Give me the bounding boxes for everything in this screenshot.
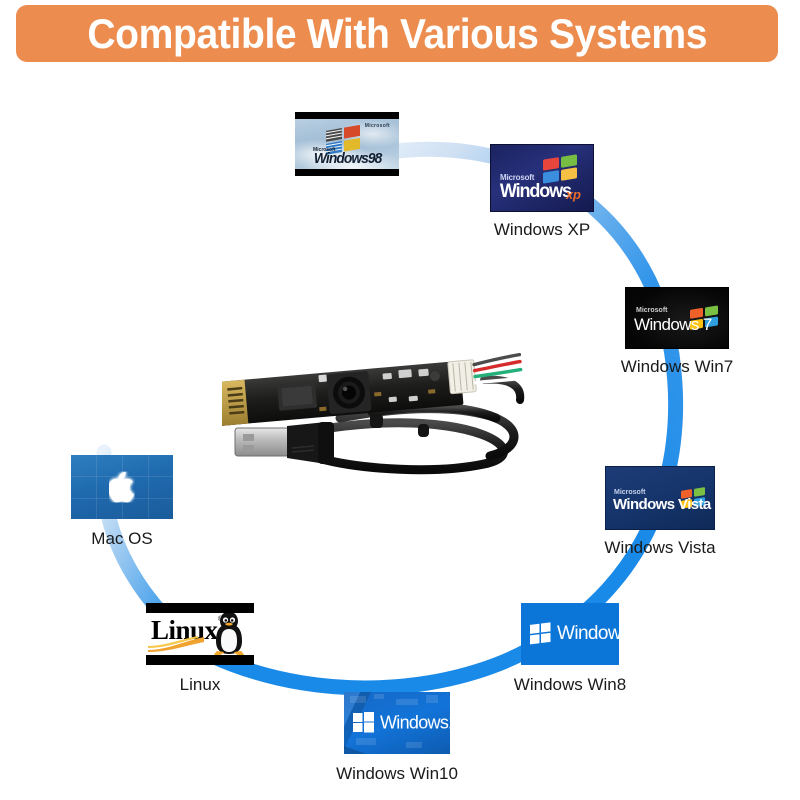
os-node-linux[interactable]: Linux ® Linux: [146, 603, 254, 665]
windows7-logo-tile: Microsoft Windows 7: [625, 287, 729, 349]
windows8-logo-tile: Windows 8: [521, 603, 619, 665]
windows8-flag-icon: [529, 622, 553, 646]
os-node-windows98[interactable]: Microsoft Microsof: [295, 112, 399, 176]
os-node-macos[interactable]: Mac OS: [71, 455, 173, 519]
microsoft-wordmark: Microsoft: [636, 307, 668, 314]
os-node-windowsvista[interactable]: Microsoft Windows Vista Windows Vista: [605, 466, 715, 530]
apple-logo-icon: [109, 472, 135, 503]
macos-logo-tile: [71, 455, 173, 519]
microsoft-wordmark: Microsoft: [365, 123, 390, 129]
windows10-logo-tile: Windows10: [344, 692, 450, 754]
page-title: Compatible With Various Systems: [87, 10, 707, 58]
windows10-flag-icon: [352, 711, 376, 735]
os-label-linux: Linux: [180, 675, 221, 695]
os-label-windows8: Windows Win8: [514, 675, 626, 695]
os-node-windows8[interactable]: Windows 8 Windows Win8: [521, 603, 619, 665]
microsoft-wordmark: Microsoft: [614, 489, 646, 496]
os-label-windowsxp: Windows XP: [494, 220, 590, 240]
windows10-wordmark: Windows10: [380, 713, 450, 734]
windowsxp-suffix: xp: [566, 187, 581, 202]
os-node-windows10[interactable]: Windows10 Windows Win10: [344, 692, 450, 754]
windows98-wordmark: Windows98: [314, 150, 382, 167]
linux-logo-tile: Linux ®: [146, 603, 254, 665]
os-label-windows7: Windows Win7: [621, 357, 733, 377]
os-node-windowsxp[interactable]: Microsoft Windows xp Windows XP: [490, 144, 594, 212]
infographic-canvas: Compatible With Various Systems: [0, 0, 800, 800]
windowsxp-wordmark: Windows: [500, 181, 571, 203]
windows98-logo-tile: Microsoft Microsof: [295, 112, 399, 176]
os-label-macos: Mac OS: [91, 529, 152, 549]
windowsvista-wordmark: Windows Vista: [613, 496, 711, 513]
usb-camera-module: [222, 352, 552, 477]
windowsvista-logo-tile: Microsoft Windows Vista: [605, 466, 715, 530]
os-label-windowsvista: Windows Vista: [604, 538, 715, 558]
os-label-windows10: Windows Win10: [336, 764, 458, 784]
windows8-wordmark: Windows 8: [557, 623, 619, 645]
os-node-windows7[interactable]: Microsoft Windows 7 Windows Win7: [625, 287, 729, 349]
windows7-wordmark: Windows 7: [634, 315, 712, 335]
header-banner: Compatible With Various Systems: [16, 5, 778, 62]
tux-penguin-icon: [210, 611, 248, 657]
windowsxp-logo-tile: Microsoft Windows xp: [490, 144, 594, 212]
